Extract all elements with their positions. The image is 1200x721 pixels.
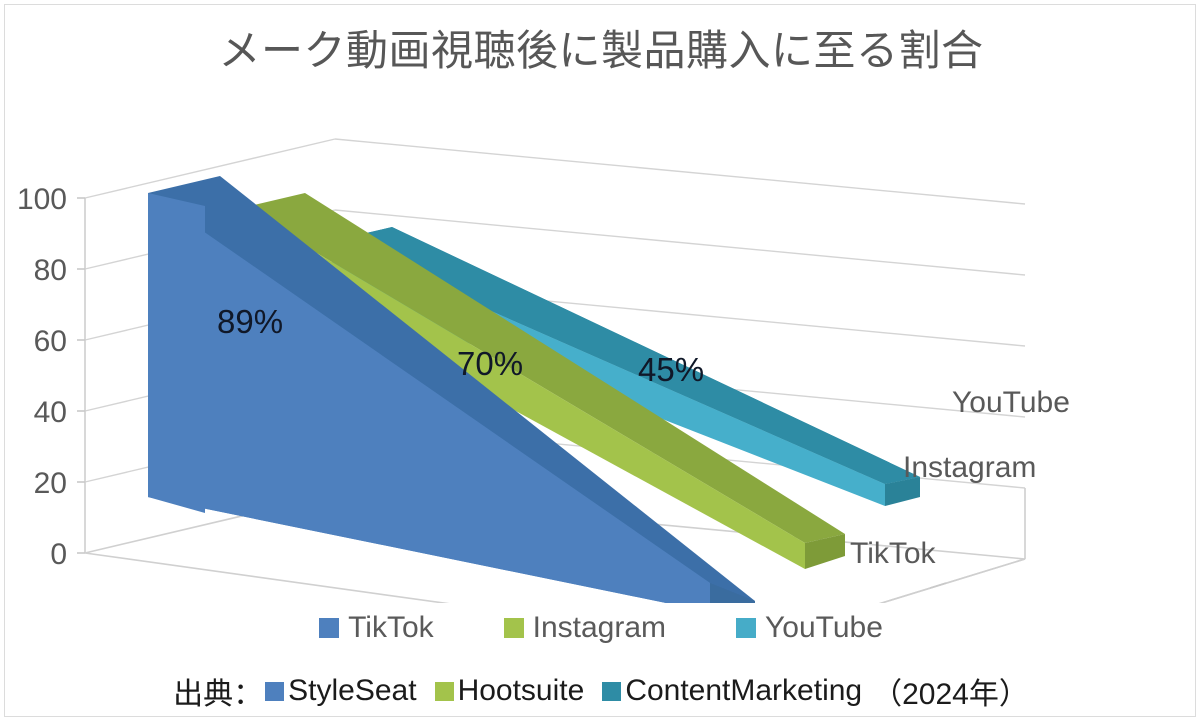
legend-swatch-icon [736,618,756,638]
source-label: Hootsuite [458,676,585,706]
source-swatch-icon [435,682,454,701]
data-label-instagram: 70% [457,345,523,382]
source-label: ContentMarketing [625,676,862,706]
y-tick-100: 100 [17,183,67,216]
y-tick-0: 0 [50,538,67,571]
y-tick-40: 40 [34,396,67,429]
y-tick-60: 60 [34,325,67,358]
source-year-label: （2024年） [872,669,1029,713]
source-swatch-icon [602,682,621,701]
data-label-youtube: 45% [638,351,704,388]
data-label-tiktok: 89% [217,303,283,340]
y-tick-20: 20 [34,467,67,500]
legend-item-instagram[interactable]: Instagram [504,613,666,643]
bar-tiktok-body [148,176,220,497]
source-item-hootsuite: Hootsuite [435,676,585,706]
y-axis-tick-labels: 100 80 60 40 20 0 [17,183,67,571]
source-prefix-label: 出典： [173,669,263,713]
y-tick-80: 80 [34,254,67,287]
legend-label: Instagram [533,613,666,643]
legend-item-youtube[interactable]: YouTube [736,613,883,643]
source-swatch-icon [265,682,284,701]
chart-title: メーク動画視聴後に製品購入に至る割合 [5,27,1197,75]
chart-legend: TikTok Instagram YouTube [5,613,1197,643]
category-label-tiktok: TikTok [850,537,937,570]
chart-screenshot: メーク動画視聴後に製品購入に至る割合 [0,0,1200,721]
legend-label: YouTube [765,613,883,643]
source-item-contentmarketing: ContentMarketing [602,676,862,706]
chart-container: メーク動画視聴後に製品購入に至る割合 [4,4,1196,717]
plot-area: 100 80 60 40 20 0 [5,93,1197,603]
legend-swatch-icon [504,618,524,638]
source-item-styleseat: StyleSeat [265,676,416,706]
category-label-instagram: Instagram [903,451,1036,484]
legend-item-tiktok[interactable]: TikTok [319,613,434,643]
source-label: StyleSeat [288,676,416,706]
legend-label: TikTok [348,613,434,643]
y-axis [77,198,85,553]
category-label-youtube: YouTube [952,386,1070,419]
legend-swatch-icon [319,618,339,638]
source-caption: 出典： StyleSeat Hootsuite ContentMarketing… [5,669,1197,713]
